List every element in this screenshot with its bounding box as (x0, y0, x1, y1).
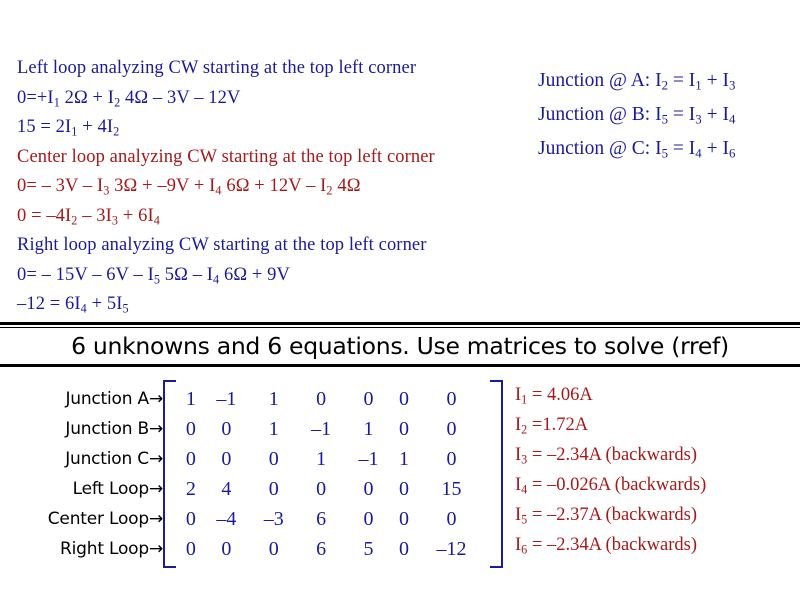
banner-rule-top-thick (0, 322, 800, 325)
matrix-cell-r3c1: 0 (179, 444, 203, 474)
matrix-row: 0001–110 (179, 444, 487, 474)
matrix-section: Junction A→Junction B→Junction C→Left Lo… (0, 380, 800, 580)
matrix-cell-r4c4: 0 (297, 474, 344, 504)
matrix-row: 24000015 (179, 474, 487, 504)
loop-equations-column: Left loop analyzing CW starting at the t… (17, 54, 517, 320)
matrix-cell-r2c4: –1 (297, 414, 344, 444)
matrix-cell-r3c5: –1 (345, 444, 392, 474)
matrix-cell-r1c4: 0 (297, 384, 344, 414)
matrix-cell-r3c2: 0 (203, 444, 250, 474)
matrix-cell-r6c6: 0 (392, 534, 416, 564)
matrix-bracket-left (163, 380, 176, 568)
augmented-matrix: 1–110000001–11000001–110240000150–4–3600… (163, 380, 503, 564)
matrix-row-label-6: Right Loop→ (0, 534, 163, 564)
matrix-cell-r4c2: 4 (203, 474, 250, 504)
junction-a: Junction @ A: I2 = I1 + I3 (538, 64, 800, 98)
matrix-cell-r1c2: –1 (203, 384, 250, 414)
matrix-cell-r3c6: 1 (392, 444, 416, 474)
right-loop-eq1: 0= – 15V – 6V – I5 5Ω – I4 6Ω + 9V (17, 261, 517, 291)
matrix-cell-r1c1: 1 (179, 384, 203, 414)
matrix-row: 0–4–36000 (179, 504, 487, 534)
center-loop-heading: Center loop analyzing CW starting at the… (17, 143, 517, 173)
matrix-row-labels: Junction A→Junction B→Junction C→Left Lo… (0, 380, 163, 564)
matrix-cell-r1c6: 0 (392, 384, 416, 414)
matrix-cell-r1c5: 0 (345, 384, 392, 414)
matrix-cell-r2c6: 0 (392, 414, 416, 444)
banner-title: 6 unknowns and 6 equations. Use matrices… (0, 330, 800, 363)
matrix-cell-r4c7: 15 (416, 474, 487, 504)
matrix-cell-r2c2: 0 (203, 414, 250, 444)
matrix-row-label-5: Center Loop→ (0, 504, 163, 534)
matrix-cell-r3c3: 0 (250, 444, 297, 474)
matrix-row: 1–110000 (179, 384, 487, 414)
matrix-cell-r5c6: 0 (392, 504, 416, 534)
matrix-cell-r2c7: 0 (416, 414, 487, 444)
matrix-cell-r2c3: 1 (250, 414, 297, 444)
matrix-cell-r6c2: 0 (203, 534, 250, 564)
matrix-cell-r6c5: 5 (345, 534, 392, 564)
matrix-cell-r1c7: 0 (416, 384, 487, 414)
banner-rule-bottom (0, 364, 800, 367)
matrix-bracket-right (490, 380, 503, 568)
equations-section: Left loop analyzing CW starting at the t… (0, 0, 800, 326)
right-loop-heading: Right loop analyzing CW starting at the … (17, 231, 517, 261)
solution-i5: I5 = –2.37A (backwards) (515, 500, 800, 530)
left-loop-eq1: 0=+I1 2Ω + I2 4Ω – 3V – 12V (17, 84, 517, 114)
matrix-row: 001–1100 (179, 414, 487, 444)
matrix-cell-r6c3: 0 (250, 534, 297, 564)
matrix-cell-r1c3: 1 (250, 384, 297, 414)
solutions-column: I1 = 4.06AI2 =1.72AI3 = –2.34A (backward… (503, 380, 800, 560)
center-loop-eq2: 0 = –4I2 – 3I3 + 6I4 (17, 202, 517, 232)
matrix-cell-r3c7: 0 (416, 444, 487, 474)
matrix-table: 1–110000001–11000001–110240000150–4–3600… (179, 384, 487, 564)
banner-rule-top-thin (0, 327, 800, 328)
solution-i2: I2 =1.72A (515, 410, 800, 440)
matrix-cell-r4c1: 2 (179, 474, 203, 504)
matrix-row-label-1: Junction A→ (0, 384, 163, 414)
matrix-cell-r2c1: 0 (179, 414, 203, 444)
junction-b: Junction @ B: I5 = I3 + I4 (538, 98, 800, 132)
matrix-cell-r6c4: 6 (297, 534, 344, 564)
matrix-cell-r4c3: 0 (250, 474, 297, 504)
left-loop-heading: Left loop analyzing CW starting at the t… (17, 54, 517, 84)
solution-i3: I3 = –2.34A (backwards) (515, 440, 800, 470)
matrix-cell-r6c1: 0 (179, 534, 203, 564)
matrix-cell-r5c1: 0 (179, 504, 203, 534)
solution-i6: I6 = –2.34A (backwards) (515, 530, 800, 560)
banner: 6 unknowns and 6 equations. Use matrices… (0, 330, 800, 363)
right-loop-eq2: –12 = 6I4 + 5I5 (17, 290, 517, 320)
matrix-row-label-4: Left Loop→ (0, 474, 163, 504)
matrix-cell-r5c2: –4 (203, 504, 250, 534)
solution-i4: I4 = –0.026A (backwards) (515, 470, 800, 500)
matrix-row-label-3: Junction C→ (0, 444, 163, 474)
matrix-row-label-2: Junction B→ (0, 414, 163, 444)
center-loop-eq1: 0= – 3V – I3 3Ω + –9V + I4 6Ω + 12V – I2… (17, 172, 517, 202)
junction-equations-column: Junction @ A: I2 = I1 + I3Junction @ B: … (538, 64, 800, 166)
matrix-cell-r5c4: 6 (297, 504, 344, 534)
matrix-cell-r4c6: 0 (392, 474, 416, 504)
matrix-cell-r2c5: 1 (345, 414, 392, 444)
junction-c: Junction @ C: I5 = I4 + I6 (538, 132, 800, 166)
matrix-cell-r5c3: –3 (250, 504, 297, 534)
matrix-cell-r5c7: 0 (416, 504, 487, 534)
matrix-row: 000650–12 (179, 534, 487, 564)
solution-i1: I1 = 4.06A (515, 380, 800, 410)
matrix-cell-r6c7: –12 (416, 534, 487, 564)
left-loop-eq2: 15 = 2I1 + 4I2 (17, 113, 517, 143)
matrix-cell-r4c5: 0 (345, 474, 392, 504)
matrix-cell-r3c4: 1 (297, 444, 344, 474)
matrix-cell-r5c5: 0 (345, 504, 392, 534)
